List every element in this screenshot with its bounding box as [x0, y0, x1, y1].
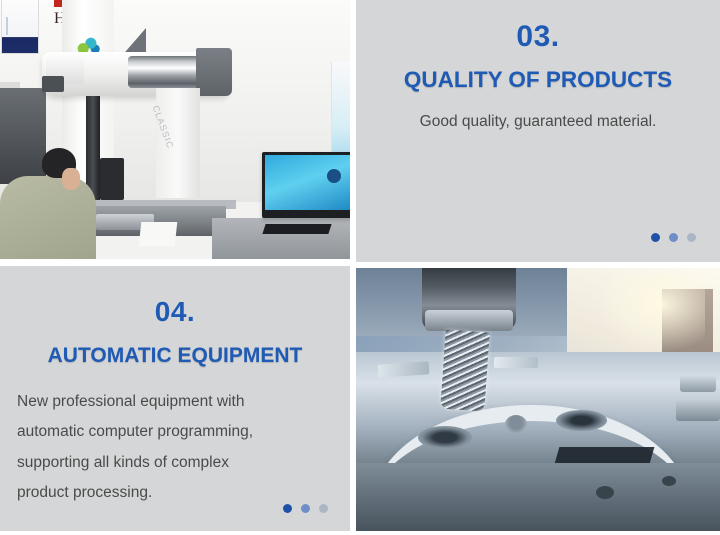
wall-sign-red-block-left [54, 0, 62, 7]
monitor-screen [265, 155, 350, 210]
card-number: 03. [356, 22, 720, 52]
carousel-dot-3[interactable] [319, 504, 328, 513]
screen-icon [327, 169, 341, 183]
plate-feature-b [494, 357, 538, 368]
card-quality-of-products[interactable]: 03. QUALITY OF PRODUCTS Good quality, gu… [356, 0, 720, 262]
carousel-dot-2[interactable] [301, 504, 310, 513]
light-glow [596, 273, 705, 352]
carousel-dot-3[interactable] [687, 233, 696, 242]
card-body-line: supporting all kinds of complex [17, 448, 333, 478]
operator-monitor [262, 152, 350, 218]
fixture-rail-upper [680, 376, 716, 392]
carousel-dot-1[interactable] [651, 233, 660, 242]
card-title: AUTOMATIC EQUIPMENT [0, 344, 350, 367]
wall-poster [1, 0, 39, 54]
fixture-rail-lower [676, 400, 720, 421]
carousel-dots[interactable] [283, 504, 328, 513]
machine-table [356, 463, 720, 531]
cmm-room-scene: HO CLASSIC [0, 0, 350, 259]
secondary-monitor [100, 158, 124, 200]
carousel-dots[interactable] [651, 233, 696, 242]
carousel-dot-1[interactable] [283, 504, 292, 513]
carousel-dot-2[interactable] [669, 233, 678, 242]
card-title: QUALITY OF PRODUCTS [356, 68, 720, 93]
technician-body [0, 176, 96, 259]
end-mill-cutter [441, 330, 490, 412]
card-body: New professional equipment with automati… [0, 387, 350, 508]
card-body-line: New professional equipment with [17, 387, 333, 417]
photo-cnc-milling [356, 268, 720, 531]
card-body-line: automatic computer programming, [17, 417, 333, 447]
keyboard [262, 224, 331, 234]
boss-feature [505, 415, 527, 433]
counterbore-hole-right [556, 410, 607, 431]
advantages-grid: HO CLASSIC [0, 0, 720, 535]
left-machine-body [0, 88, 46, 184]
cnc-milling-scene [356, 268, 720, 531]
card-number: 04. [0, 298, 350, 326]
cmm-rail-end-cap [196, 48, 232, 96]
photo-cmm-inspection: HO CLASSIC [0, 0, 350, 259]
poster-chart [6, 17, 34, 35]
paper-sheet [139, 222, 178, 246]
card-body: Good quality, guaranteed material. [356, 114, 720, 130]
cmm-probe-mount [42, 76, 64, 92]
card-automatic-equipment[interactable]: 04. AUTOMATIC EQUIPMENT New professional… [0, 266, 350, 531]
technician-face [62, 168, 80, 190]
tool-holder-ring [425, 310, 512, 331]
